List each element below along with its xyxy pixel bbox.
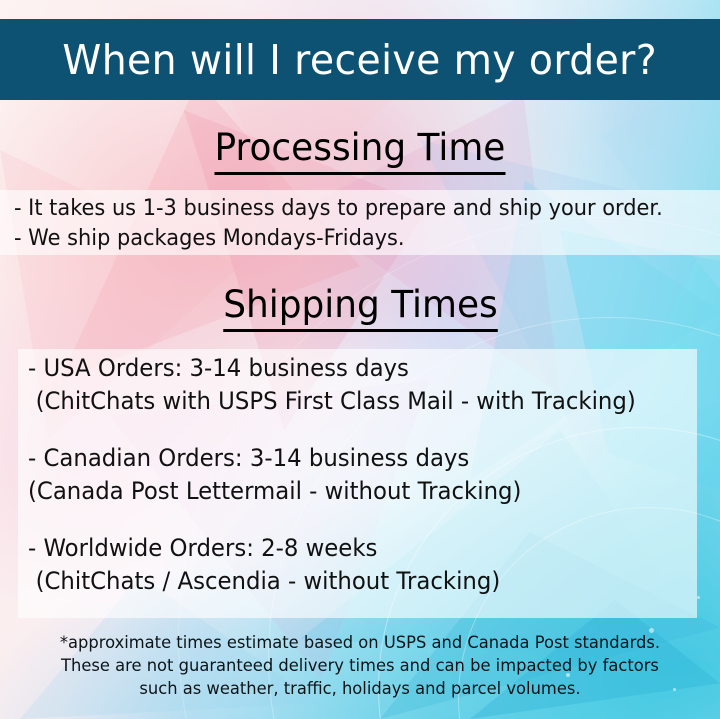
shipping-group-usa: - USA Orders: 3-14 business days (ChitCh…: [28, 352, 708, 418]
disclaimer-footnote-line: such as weather, traffic, holidays and p…: [14, 678, 705, 701]
processing-time-line: - We ship packages Mondays-Fridays.: [14, 224, 679, 254]
section-heading-processing-time-label: Processing Time: [215, 126, 506, 175]
section-heading-shipping-times-label: Shipping Times: [223, 283, 498, 332]
shipping-group-secondary-line: (Canada Post Lettermail - without Tracki…: [28, 475, 674, 508]
processing-time-line: - It takes us 1-3 business days to prepa…: [14, 194, 679, 224]
shipping-group-primary-line: - Worldwide Orders: 2-8 weeks: [28, 532, 674, 565]
shipping-group-secondary-line: (ChitChats with USPS First Class Mail - …: [28, 385, 674, 418]
shipping-group-primary-line: - USA Orders: 3-14 business days: [28, 352, 674, 385]
poster-content: Processing Time - It takes us 1-3 busine…: [0, 0, 720, 719]
disclaimer-footnote: *approximate times estimate based on USP…: [0, 632, 720, 701]
shipping-group-canada: - Canadian Orders: 3-14 business days (C…: [28, 442, 708, 508]
processing-time-lines: - It takes us 1-3 business days to prepa…: [14, 194, 714, 254]
shipping-times-groups: - USA Orders: 3-14 business days (ChitCh…: [28, 352, 708, 598]
section-heading-processing-time: Processing Time: [0, 126, 720, 175]
section-heading-shipping-times: Shipping Times: [0, 283, 720, 332]
disclaimer-footnote-line: *approximate times estimate based on USP…: [14, 632, 705, 655]
faq-shipping-poster: When will I receive my order? Processing…: [0, 0, 720, 719]
shipping-group-primary-line: - Canadian Orders: 3-14 business days: [28, 442, 674, 475]
disclaimer-footnote-line: These are not guaranteed delivery times …: [14, 655, 705, 678]
shipping-group-worldwide: - Worldwide Orders: 2-8 weeks (ChitChats…: [28, 532, 708, 598]
shipping-group-secondary-line: (ChitChats / Ascendia - without Tracking…: [28, 565, 674, 598]
